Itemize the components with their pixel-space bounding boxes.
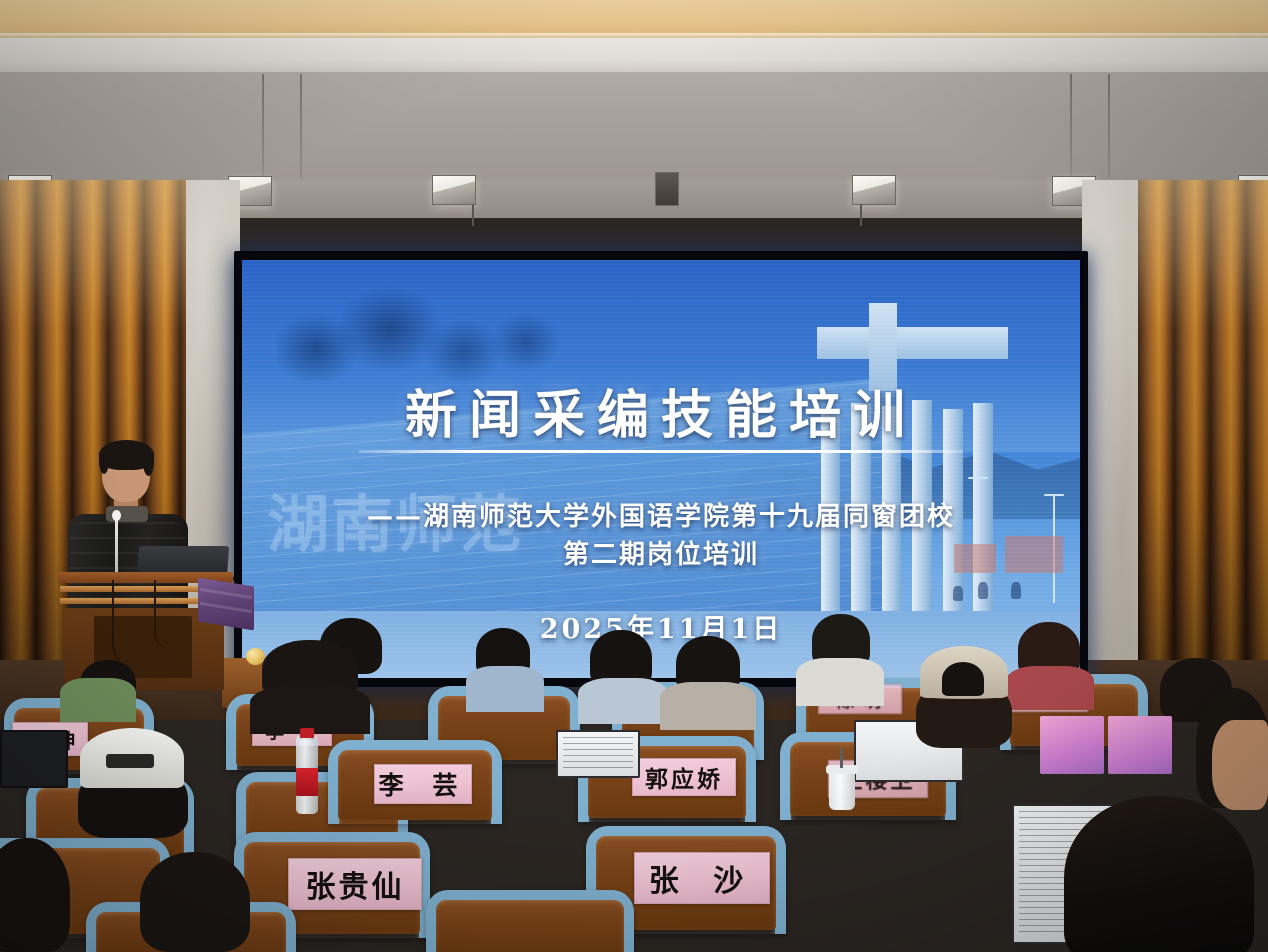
ceiling-downlight (852, 175, 896, 205)
slide-photo-pedestrian (1011, 582, 1021, 599)
audience-member-with-cap (916, 652, 1012, 748)
face-profile (1212, 720, 1268, 810)
shoulders (796, 658, 884, 706)
cap-back-opening (942, 662, 984, 696)
cup-straw (840, 748, 843, 768)
laptop-sticker (1040, 716, 1104, 774)
laptop-sticker (1108, 716, 1172, 774)
ceiling-air-vent (655, 172, 679, 206)
ceiling-warm-cove-light (0, 0, 1268, 40)
shoulders (60, 678, 136, 722)
cap-strap (106, 754, 154, 768)
audience-member-foreground (1212, 720, 1268, 810)
ceiling-seam (1070, 74, 1072, 178)
ceiling-seam (262, 74, 264, 178)
hair (140, 852, 250, 952)
slide-subtitle-line-2: 第二期岗位培训 (242, 534, 1080, 571)
microphone-stem (115, 514, 118, 576)
audience-member-foreground (1064, 796, 1254, 952)
slide-title-underline (359, 450, 962, 453)
speaker-hair (143, 448, 154, 476)
slide-photo-pedestrian (978, 582, 988, 599)
lecture-hall-scene: 湖南师范 新闻采编技能培训 ——湖南师范大学外国语学院第十 (0, 0, 1268, 952)
hair (0, 838, 70, 952)
speaker-hair (99, 448, 109, 474)
audience-member-foreground (140, 852, 250, 952)
ceiling-downlight (432, 175, 476, 205)
slide-photo-trees (276, 273, 561, 382)
seat-name-placard: 李 芸 (374, 764, 472, 804)
slide-photo-monument (803, 327, 1021, 620)
audience-member (250, 686, 370, 734)
seat-name-placard: 张贵仙 (288, 858, 422, 910)
wall-light-glow (0, 180, 186, 330)
shoulders (578, 678, 668, 724)
audience-member (796, 658, 884, 706)
seat-back (436, 900, 624, 952)
hair (1064, 796, 1254, 952)
audience-member (1006, 666, 1094, 710)
audience-member (660, 682, 756, 730)
audience-member-with-cap (78, 728, 188, 838)
ceiling-soffit (0, 38, 1268, 74)
ceiling-seam (1108, 74, 1110, 178)
audience-member (60, 678, 136, 722)
light-suspension-rod (472, 204, 474, 226)
seat-name-placard: 张 沙 (634, 852, 770, 904)
slide-subtitle-line-1: ——湖南师范大学外国语学院第十九届同窗团校 (242, 496, 1080, 533)
shoulders (466, 666, 544, 712)
audience-member (466, 666, 544, 712)
wall-light-glow (1138, 180, 1268, 330)
audience-member-foreground (0, 838, 70, 952)
shoulders (250, 686, 370, 734)
shoulders (660, 682, 756, 730)
bottle-cap (300, 728, 314, 738)
laptop-screen-text (563, 737, 633, 771)
auditorium-seat[interactable]: 李 芸 (338, 750, 492, 820)
auditorium-seat[interactable] (436, 900, 624, 952)
slide-photo-pedestrian (953, 586, 962, 601)
seat-name-placard: 郭应娇 (632, 758, 736, 796)
ceiling-main-panel (0, 72, 1268, 182)
light-suspension-rod (860, 204, 862, 226)
coffee-cup (829, 770, 855, 810)
ceiling-seam (300, 74, 302, 178)
coca-cola-label (296, 768, 318, 796)
shoulders (1006, 666, 1094, 710)
slide-title: 新闻采编技能培训 (242, 373, 1080, 448)
audience-laptop[interactable] (0, 730, 68, 788)
audience-seating: 何 坤 李 芸 陈 玥 袁 夕 (0, 600, 1268, 952)
audience-member (578, 678, 668, 724)
microphone-head (112, 510, 121, 521)
audience-laptop[interactable] (556, 730, 640, 778)
